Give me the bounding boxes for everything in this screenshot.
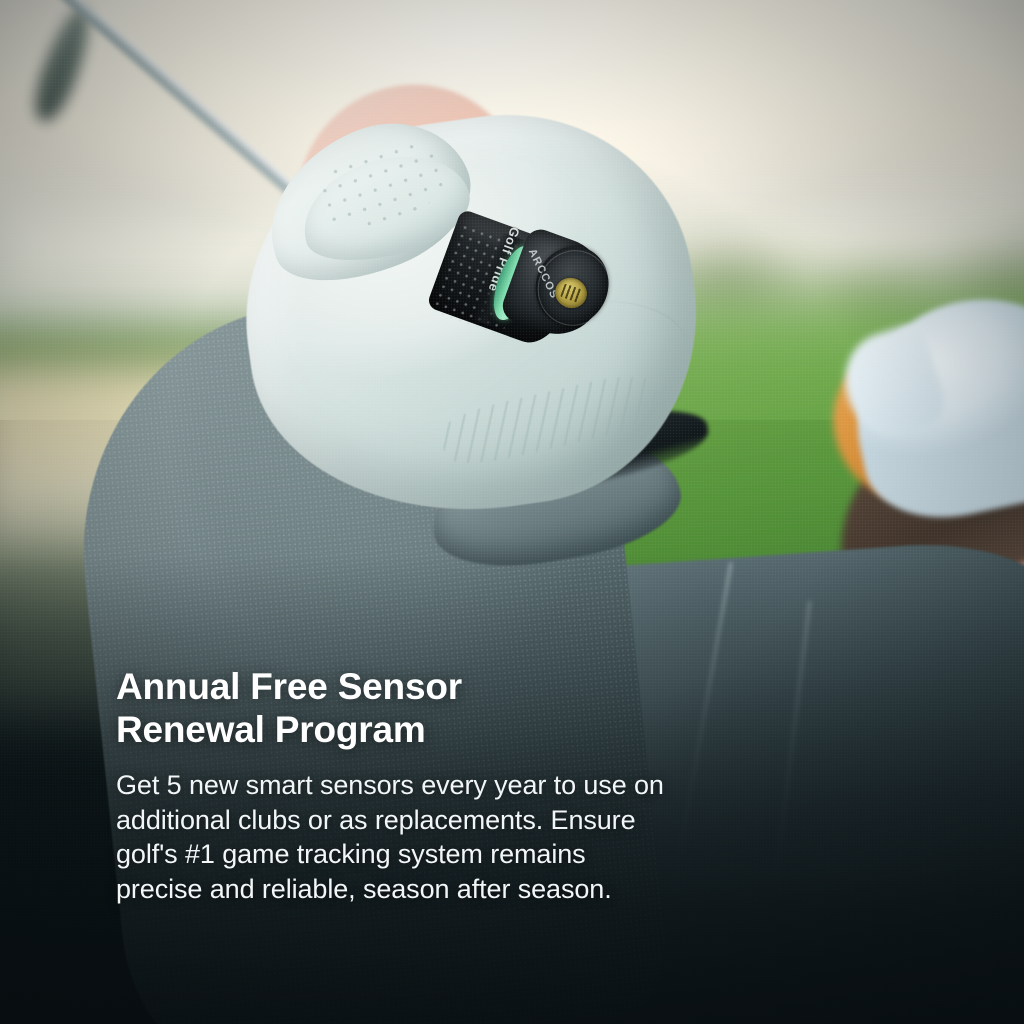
body-copy: Get 5 new smart sensors every year to us… [116, 768, 836, 907]
promo-image: Golf Pride ARCCOS Annual Free Sensor Ren… [0, 0, 1024, 1024]
headline: Annual Free Sensor Renewal Program [116, 666, 876, 752]
overlay-copy-block: Annual Free Sensor Renewal Program Get 5… [116, 666, 876, 907]
